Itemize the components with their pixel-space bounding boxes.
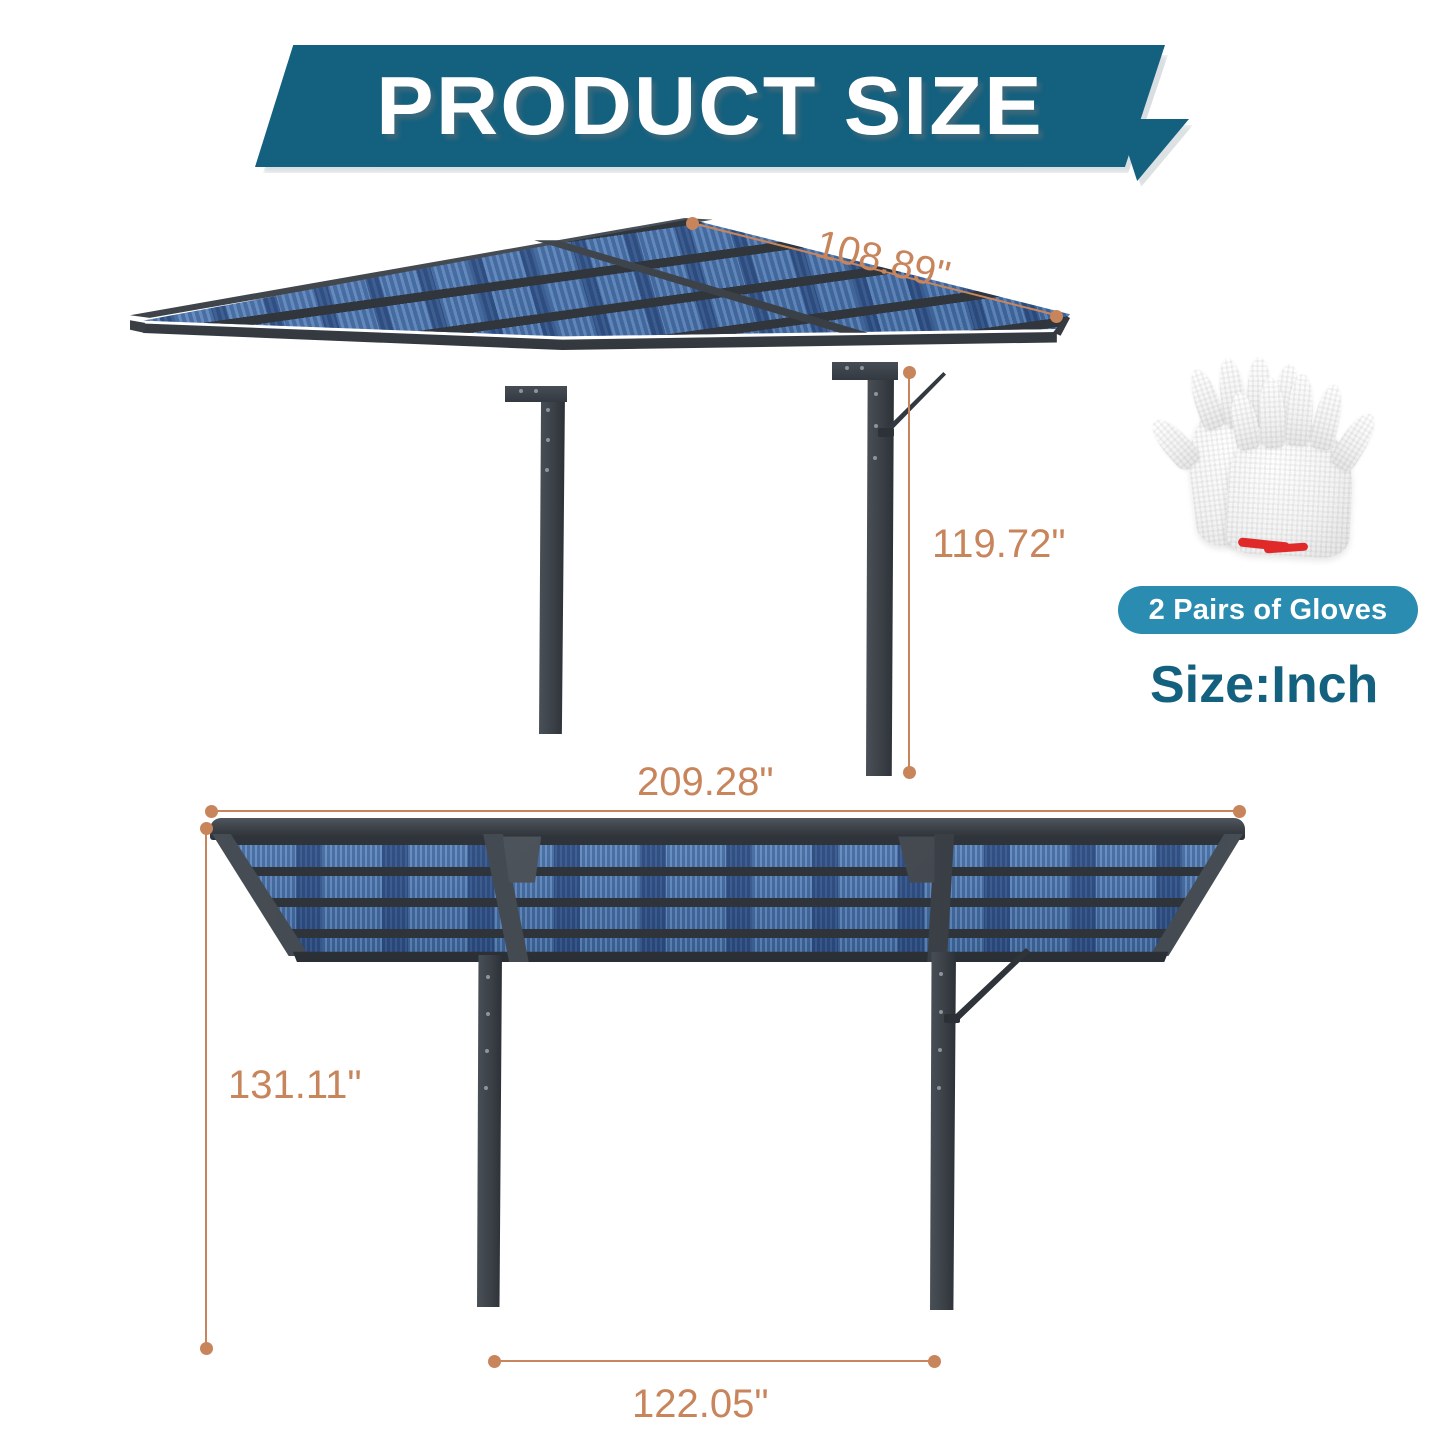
gloves-badge: 2 Pairs of Gloves <box>1118 586 1418 634</box>
dimension-endpoint-dot <box>903 366 916 379</box>
bolt <box>484 1086 488 1090</box>
dimension-label-122: 122.05" <box>632 1382 769 1427</box>
bolt <box>874 424 878 428</box>
brace-foot-right <box>878 428 894 437</box>
front-roof-assembly <box>210 818 1245 968</box>
bolt <box>874 392 878 396</box>
bolt <box>938 1048 942 1052</box>
support-post-left <box>539 392 565 734</box>
units-note: Size:Inch <box>1150 655 1378 715</box>
gloves-illustration <box>1128 352 1408 567</box>
dimension-endpoint-dot <box>928 1355 941 1368</box>
dimension-endpoint-dot <box>200 1342 213 1355</box>
bolt <box>485 1049 489 1053</box>
product-size-banner: PRODUCT SIZE <box>255 45 1185 195</box>
post-right-bracket <box>832 362 898 380</box>
dimension-endpoint-dot <box>200 822 213 835</box>
product-size-infographic: PRODUCT SIZE <box>0 0 1445 1445</box>
dimension-endpoint-dot <box>1050 310 1063 323</box>
bolt <box>534 389 538 393</box>
banner-body: PRODUCT SIZE <box>255 45 1165 167</box>
dimension-endpoint-dot <box>686 217 699 230</box>
dimension-line <box>205 828 207 1348</box>
dimension-label-119: 119.72" <box>932 522 1066 567</box>
dimension-endpoint-dot <box>1233 805 1246 818</box>
bolt <box>937 1086 941 1090</box>
dimension-line <box>494 1360 934 1362</box>
dimension-line <box>908 372 910 772</box>
bolt <box>486 975 490 979</box>
bolt <box>546 438 550 442</box>
dimension-endpoint-dot <box>488 1355 501 1368</box>
bolt <box>486 1012 490 1016</box>
bolt <box>845 366 849 370</box>
dimension-label-209: 209.28" <box>637 760 774 805</box>
bolt <box>546 408 550 412</box>
bolt <box>545 468 549 472</box>
bolt <box>519 389 523 393</box>
front-support-post-right <box>930 952 956 1310</box>
bolt <box>939 972 943 976</box>
front-brace-foot-right <box>944 1014 960 1023</box>
dimension-label-131: 131.11" <box>228 1063 362 1108</box>
dimension-endpoint-dot <box>903 766 916 779</box>
dimension-line <box>211 810 1240 812</box>
front-support-post-left <box>477 955 502 1307</box>
bolt <box>939 1010 943 1014</box>
bolt <box>860 366 864 370</box>
roof-purlin <box>130 218 1070 403</box>
page-title: PRODUCT SIZE <box>376 58 1044 154</box>
gloves-badge-label: 2 Pairs of Gloves <box>1149 594 1388 627</box>
front-roof-purlins <box>210 836 1245 954</box>
dimension-endpoint-dot <box>205 805 218 818</box>
bolt <box>873 456 877 460</box>
roof-assembly <box>130 218 1070 398</box>
